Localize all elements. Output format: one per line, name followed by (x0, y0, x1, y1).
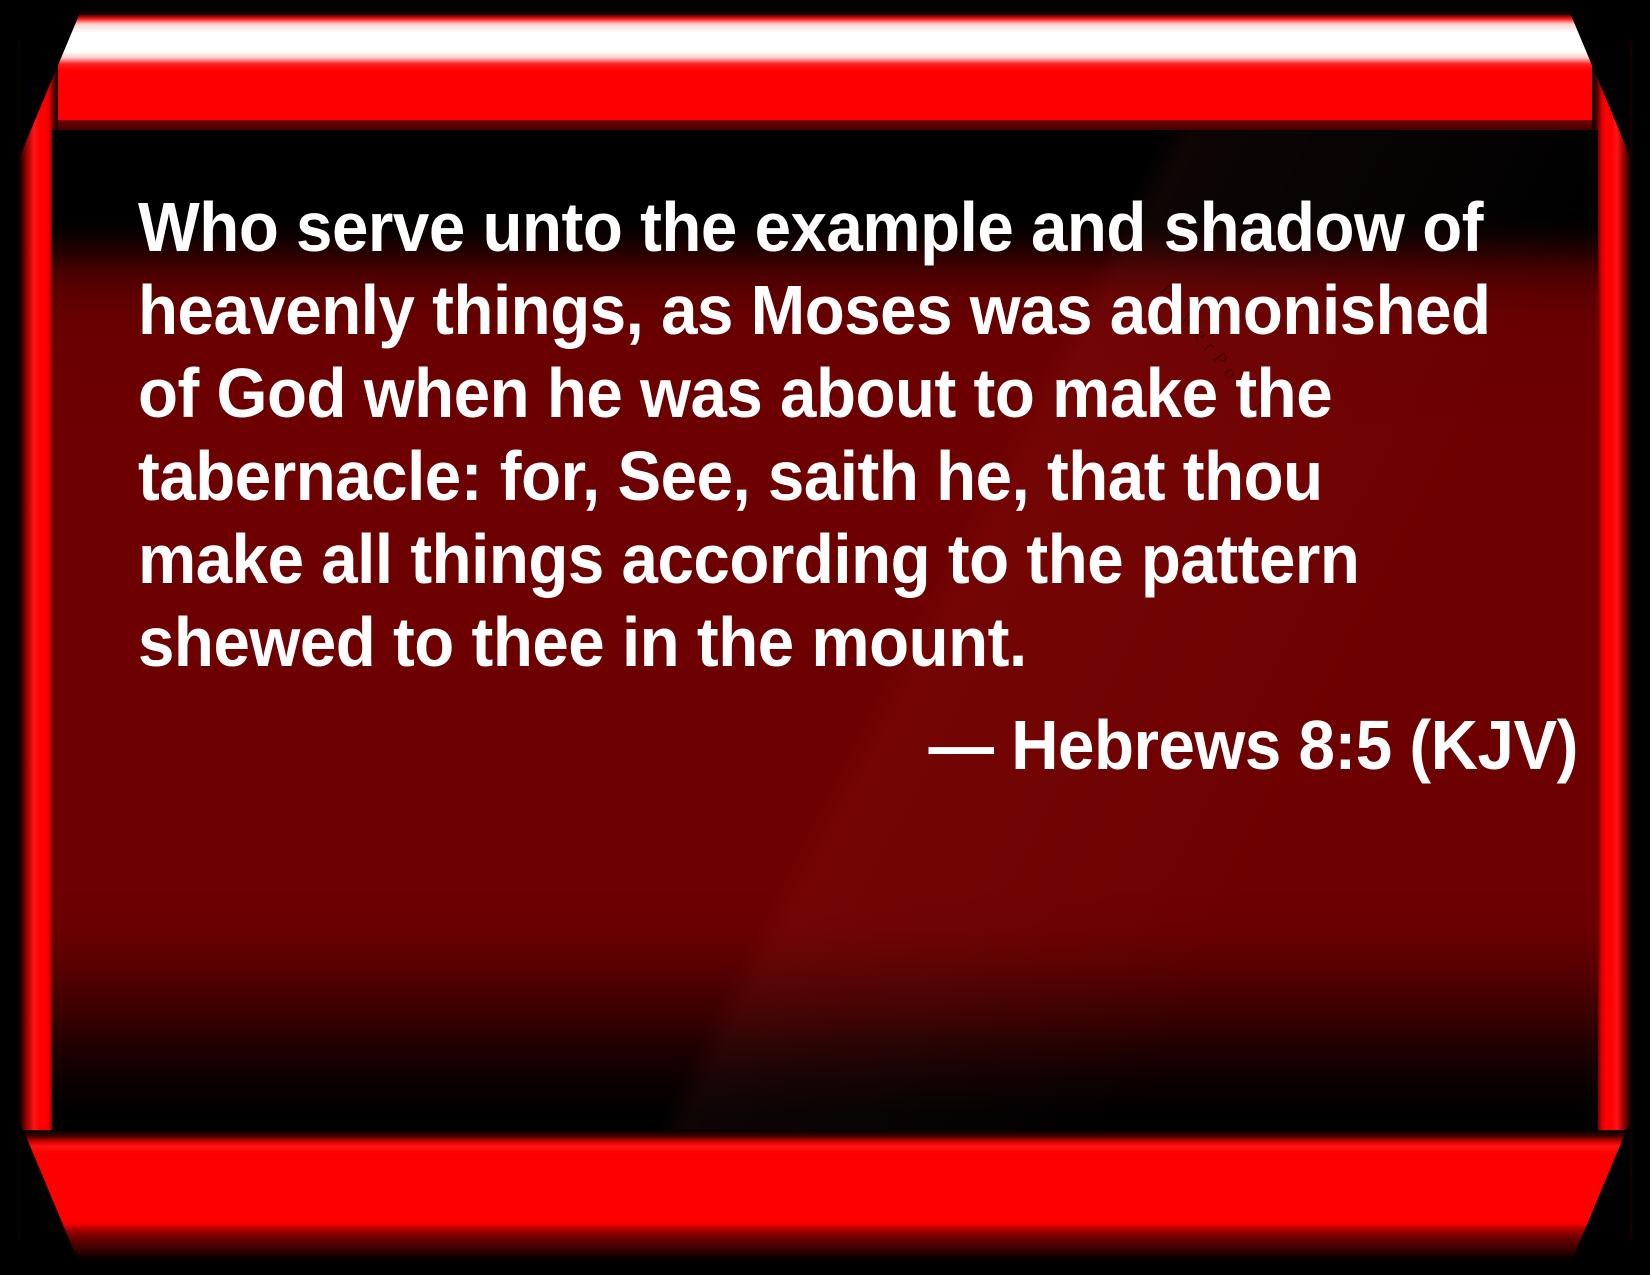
verse-attribution: — Hebrews 8:5 (KJV) (232, 684, 1578, 787)
frame-right-rail (1592, 40, 1634, 1240)
verse-panel: PowerPoint Who serve unto the example an… (52, 130, 1598, 1130)
verse-line: heavenly things, as Moses was admonished (138, 269, 1484, 352)
slide-canvas: PowerPoint Who serve unto the example an… (0, 0, 1650, 1275)
verse-line: shewed to thee in the mount. (138, 601, 1484, 684)
frame-bottom-bar (24, 1130, 1626, 1262)
verse-line: Who serve unto the example and shadow of (138, 186, 1484, 269)
verse-line: tabernacle: for, See, saith he, that tho… (138, 435, 1484, 518)
verse-line: of God when he was about to make the (138, 352, 1484, 435)
verse-line: make all things according to the pattern (138, 518, 1484, 601)
verse-text-block: Who serve unto the example and shadow of… (138, 186, 1578, 787)
